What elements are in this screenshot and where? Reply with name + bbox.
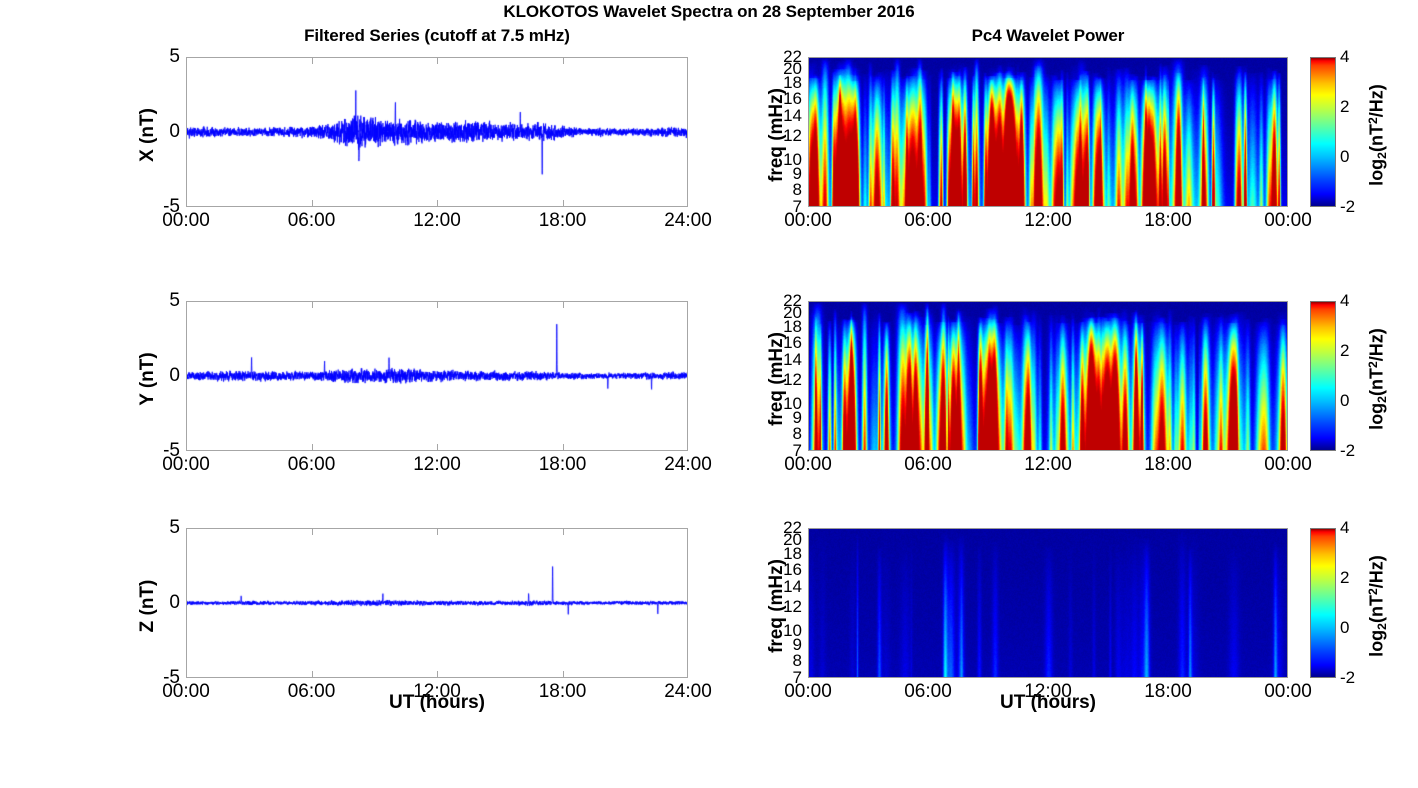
colorbar-z bbox=[1310, 528, 1336, 678]
freq-tick-z-0: 7 bbox=[762, 668, 802, 688]
colorbar-tick-x-1: 2 bbox=[1340, 97, 1349, 117]
spec-xtick-y-4: 00:00 bbox=[1264, 454, 1312, 476]
colorbar-tick-z-1: 2 bbox=[1340, 568, 1349, 588]
xtickmark-z-2 bbox=[437, 671, 438, 677]
freq-tick-y-9: 22 bbox=[762, 291, 802, 311]
spec-xtick-y-2: 12:00 bbox=[1024, 454, 1072, 476]
main-title: KLOKOTOS Wavelet Spectra on 28 September… bbox=[0, 2, 1418, 22]
colorbar-label-rest: (nT bbox=[1367, 124, 1387, 152]
spectrogram-image-x bbox=[809, 58, 1287, 206]
ytick-z-0: 5 bbox=[142, 517, 180, 539]
ytick-y-0: 5 bbox=[142, 290, 180, 312]
freq-tick-y-0: 7 bbox=[762, 441, 802, 461]
xtickmark-x-1 bbox=[312, 200, 313, 206]
freq-tick-x-0: 7 bbox=[762, 197, 802, 217]
spec-xtick-y-3: 18:00 bbox=[1144, 454, 1192, 476]
spec-xtick-z-2: 12:00 bbox=[1024, 681, 1072, 703]
colorbar-label-sub: 2 bbox=[1375, 152, 1389, 159]
freq-tick-z-9: 22 bbox=[762, 518, 802, 538]
timeseries-trace-x bbox=[187, 58, 687, 206]
xtickmark-y-1 bbox=[312, 444, 313, 450]
freq-tick-x-4: 12 bbox=[762, 126, 802, 146]
xtickmark-x-1 bbox=[312, 58, 313, 64]
colorbar-label-y: log2(nT2/Hz) bbox=[1366, 289, 1388, 469]
xtick-z-2: 12:00 bbox=[413, 681, 461, 703]
xtick-z-1: 06:00 bbox=[288, 681, 336, 703]
colorbar-label-sub: 2 bbox=[1375, 623, 1389, 630]
xtick-z-3: 18:00 bbox=[539, 681, 587, 703]
xtickmark-y-2 bbox=[437, 302, 438, 308]
colorbar-label-x: log2(nT2/Hz) bbox=[1366, 45, 1388, 225]
spec-xtick-z-1: 06:00 bbox=[904, 681, 952, 703]
xtick-x-2: 12:00 bbox=[413, 210, 461, 232]
colorbar-tick-y-0: 4 bbox=[1340, 291, 1349, 311]
freq-tick-z-4: 12 bbox=[762, 597, 802, 617]
xtick-y-3: 18:00 bbox=[539, 454, 587, 476]
colorbar-label-tail: /Hz) bbox=[1367, 84, 1387, 117]
colorbar-tick-y-1: 2 bbox=[1340, 341, 1349, 361]
freq-tick-z-3: 10 bbox=[762, 621, 802, 641]
xtick-y-2: 12:00 bbox=[413, 454, 461, 476]
freq-tick-x-5: 14 bbox=[762, 106, 802, 126]
colorbar-tick-x-0: 4 bbox=[1340, 47, 1349, 67]
colorbar-label-rest: (nT bbox=[1367, 595, 1387, 623]
colorbar-label-rest: (nT bbox=[1367, 368, 1387, 396]
colorbar-label-tail: /Hz) bbox=[1367, 328, 1387, 361]
spectrogram-image-y bbox=[809, 302, 1287, 450]
xtick-y-1: 06:00 bbox=[288, 454, 336, 476]
colorbar-tick-z-3: -2 bbox=[1340, 668, 1355, 688]
xtickmark-z-3 bbox=[563, 671, 564, 677]
xtickmark-x-2 bbox=[437, 200, 438, 206]
colorbar-label-z: log2(nT2/Hz) bbox=[1366, 516, 1388, 696]
spec-xtick-x-3: 18:00 bbox=[1144, 210, 1192, 232]
ytick-y-2: -5 bbox=[142, 440, 180, 462]
colorbar-label-text: log bbox=[1367, 159, 1387, 186]
colorbar-tick-x-3: -2 bbox=[1340, 197, 1355, 217]
freq-tick-x-9: 22 bbox=[762, 47, 802, 67]
freq-tick-z-5: 14 bbox=[762, 577, 802, 597]
xtickmark-x-3 bbox=[563, 200, 564, 206]
colorbar-tick-x-2: 0 bbox=[1340, 147, 1349, 167]
xtick-x-1: 06:00 bbox=[288, 210, 336, 232]
right-column-title: Pc4 Wavelet Power bbox=[808, 26, 1288, 46]
spec-xtick-x-2: 12:00 bbox=[1024, 210, 1072, 232]
colorbar-tick-y-3: -2 bbox=[1340, 441, 1355, 461]
ytick-x-2: -5 bbox=[142, 196, 180, 218]
ytick-x-0: 5 bbox=[142, 46, 180, 68]
xtickmark-y-1 bbox=[312, 302, 313, 308]
xtickmark-y-2 bbox=[437, 444, 438, 450]
colorbar-label-text: log bbox=[1367, 630, 1387, 657]
colorbar-tick-y-2: 0 bbox=[1340, 391, 1349, 411]
spectrogram-image-z bbox=[809, 529, 1287, 677]
colorbar-x bbox=[1310, 57, 1336, 207]
colorbar-label-sup: 2 bbox=[1366, 117, 1380, 124]
colorbar-label-sup: 2 bbox=[1366, 361, 1380, 368]
colorbar-label-sub: 2 bbox=[1375, 396, 1389, 403]
freq-tick-x-3: 10 bbox=[762, 150, 802, 170]
figure-canvas: KLOKOTOS Wavelet Spectra on 28 September… bbox=[0, 0, 1418, 788]
spec-xtick-x-1: 06:00 bbox=[904, 210, 952, 232]
xtickmark-y-3 bbox=[563, 444, 564, 450]
xtickmark-z-2 bbox=[437, 529, 438, 535]
xtickmark-x-3 bbox=[563, 58, 564, 64]
xtickmark-z-1 bbox=[312, 529, 313, 535]
ytick-x-1: 0 bbox=[142, 121, 180, 143]
timeseries-trace-y bbox=[187, 302, 687, 450]
xtick-x-3: 18:00 bbox=[539, 210, 587, 232]
timeseries-trace-z bbox=[187, 529, 687, 677]
spec-xtick-y-1: 06:00 bbox=[904, 454, 952, 476]
spec-xtick-z-3: 18:00 bbox=[1144, 681, 1192, 703]
xtick-y-4: 24:00 bbox=[664, 454, 712, 476]
ytick-z-2: -5 bbox=[142, 667, 180, 689]
colorbar-tick-z-0: 4 bbox=[1340, 518, 1349, 538]
freq-tick-y-4: 12 bbox=[762, 370, 802, 390]
xtick-z-4: 24:00 bbox=[664, 681, 712, 703]
colorbar-label-text: log bbox=[1367, 403, 1387, 430]
ytick-y-1: 0 bbox=[142, 365, 180, 387]
colorbar-label-sup: 2 bbox=[1366, 588, 1380, 595]
ytick-z-1: 0 bbox=[142, 592, 180, 614]
spec-xtick-z-4: 00:00 bbox=[1264, 681, 1312, 703]
freq-tick-y-5: 14 bbox=[762, 350, 802, 370]
xtickmark-z-3 bbox=[563, 529, 564, 535]
left-column-title: Filtered Series (cutoff at 7.5 mHz) bbox=[186, 26, 688, 46]
xtickmark-y-3 bbox=[563, 302, 564, 308]
freq-tick-y-3: 10 bbox=[762, 394, 802, 414]
xtickmark-z-1 bbox=[312, 671, 313, 677]
colorbar-tick-z-2: 0 bbox=[1340, 618, 1349, 638]
xtick-x-4: 24:00 bbox=[664, 210, 712, 232]
colorbar-y bbox=[1310, 301, 1336, 451]
xtickmark-x-2 bbox=[437, 58, 438, 64]
colorbar-label-tail: /Hz) bbox=[1367, 555, 1387, 588]
spec-xtick-x-4: 00:00 bbox=[1264, 210, 1312, 232]
